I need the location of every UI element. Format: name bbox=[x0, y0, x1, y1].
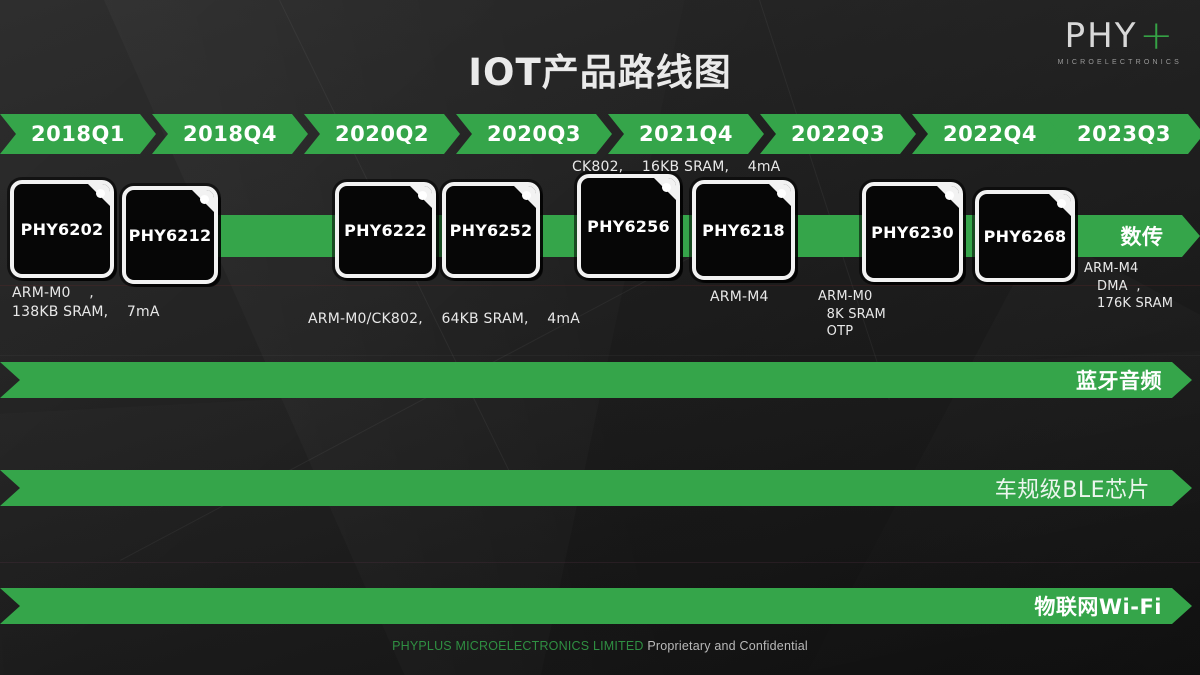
chip-dot-icon bbox=[418, 191, 427, 200]
milestone-label: 2023Q3 bbox=[1077, 122, 1171, 146]
milestone-label: 2021Q4 bbox=[639, 122, 733, 146]
product-track-data-transfer: PHY6202 PHY6212 PHY6222 PHY6252 PHY6256 … bbox=[0, 160, 1200, 360]
timeline-milestone-2021q4: 2021Q4 bbox=[608, 114, 764, 154]
milestone-label: 2022Q3 bbox=[791, 122, 885, 146]
track-label-text: 数传 bbox=[1121, 221, 1164, 251]
chip-label: PHY6256 bbox=[587, 217, 670, 236]
track-automotive-ble: 车规级BLE芯片 bbox=[0, 470, 1192, 506]
chip-dot-icon bbox=[96, 189, 105, 198]
footer-notice: PHYPLUS MICROELECTRONICS LIMITED Proprie… bbox=[0, 639, 1200, 653]
chip-label: PHY6230 bbox=[871, 223, 954, 242]
chip-phy6268[interactable]: PHY6268 bbox=[975, 190, 1075, 282]
chip-phy6202[interactable]: PHY6202 bbox=[10, 180, 114, 278]
chip-phy6212[interactable]: PHY6212 bbox=[122, 186, 218, 284]
slide-canvas: PHY + MICROELECTRONICS IOT产品路线图 2018Q1 2… bbox=[0, 0, 1200, 675]
footer-company: PHYPLUS MICROELECTRONICS LIMITED bbox=[392, 639, 644, 653]
chip-phy6252[interactable]: PHY6252 bbox=[442, 182, 540, 278]
milestone-label: 2020Q3 bbox=[487, 122, 581, 146]
spec-caption-6222-6252: ARM-M0/CK802, 64KB SRAM, 4mA bbox=[308, 310, 580, 329]
milestone-label: 2018Q1 bbox=[31, 122, 125, 146]
timeline-milestone-2018q1: 2018Q1 bbox=[0, 114, 156, 154]
chip-phy6230[interactable]: PHY6230 bbox=[862, 182, 963, 282]
milestone-label: 2018Q4 bbox=[183, 122, 277, 146]
chip-dot-icon bbox=[1057, 199, 1066, 208]
milestone-label: 2022Q4 bbox=[943, 122, 1037, 146]
page-title: IOT产品路线图 bbox=[0, 42, 1200, 96]
spec-caption-6230: ARM-M0 8K SRAM OTP bbox=[818, 288, 886, 341]
connector-bar-1 bbox=[214, 215, 342, 257]
connector-bar-5 bbox=[790, 215, 868, 257]
timeline-milestone-2020q3: 2020Q3 bbox=[456, 114, 612, 154]
timeline-milestone-2022q3: 2022Q3 bbox=[760, 114, 916, 154]
chip-label: PHY6218 bbox=[702, 221, 785, 240]
spec-caption-6218: ARM-M4 bbox=[710, 288, 769, 307]
track-label-text: 蓝牙音频 bbox=[1076, 365, 1162, 395]
track-label-text: 物联网Wi-Fi bbox=[1034, 591, 1162, 621]
chip-label: PHY6202 bbox=[21, 220, 104, 239]
track-label-data-transfer: 数传 bbox=[1084, 215, 1200, 257]
timeline-milestone-2022q4: 2022Q4 bbox=[912, 114, 1068, 154]
timeline-bar: 2018Q1 2018Q4 2020Q2 2020Q3 2021Q4 2022Q… bbox=[0, 114, 1200, 154]
spec-caption-6256: CK802, 16KB SRAM, 4mA bbox=[572, 158, 780, 177]
chip-phy6256[interactable]: PHY6256 bbox=[577, 174, 680, 278]
track-bluetooth-audio: 蓝牙音频 bbox=[0, 362, 1192, 398]
milestone-label: 2020Q2 bbox=[335, 122, 429, 146]
track-label-text: 车规级BLE芯片 bbox=[995, 472, 1150, 504]
chip-dot-icon bbox=[200, 195, 209, 204]
chip-dot-icon bbox=[777, 189, 786, 198]
chip-dot-icon bbox=[522, 191, 531, 200]
spec-caption-6268: ARM-M4 DMA , 176K SRAM bbox=[1084, 260, 1173, 313]
timeline-milestone-2020q2: 2020Q2 bbox=[304, 114, 460, 154]
chip-label: PHY6252 bbox=[450, 221, 533, 240]
timeline-milestone-2023q3: 2023Q3 bbox=[1044, 114, 1200, 154]
chip-label: PHY6268 bbox=[984, 227, 1067, 246]
footer-confidential: Proprietary and Confidential bbox=[647, 639, 808, 653]
chip-label: PHY6222 bbox=[344, 221, 427, 240]
spec-caption-6202-6212: ARM-M0 , 138KB SRAM, 7mA bbox=[12, 284, 160, 322]
timeline-milestone-2018q4: 2018Q4 bbox=[152, 114, 308, 154]
chip-dot-icon bbox=[662, 183, 671, 192]
chip-phy6222[interactable]: PHY6222 bbox=[335, 182, 436, 278]
track-iot-wifi: 物联网Wi-Fi bbox=[0, 588, 1192, 624]
chip-phy6218[interactable]: PHY6218 bbox=[692, 180, 795, 280]
chip-dot-icon bbox=[945, 191, 954, 200]
chip-label: PHY6212 bbox=[129, 226, 212, 245]
